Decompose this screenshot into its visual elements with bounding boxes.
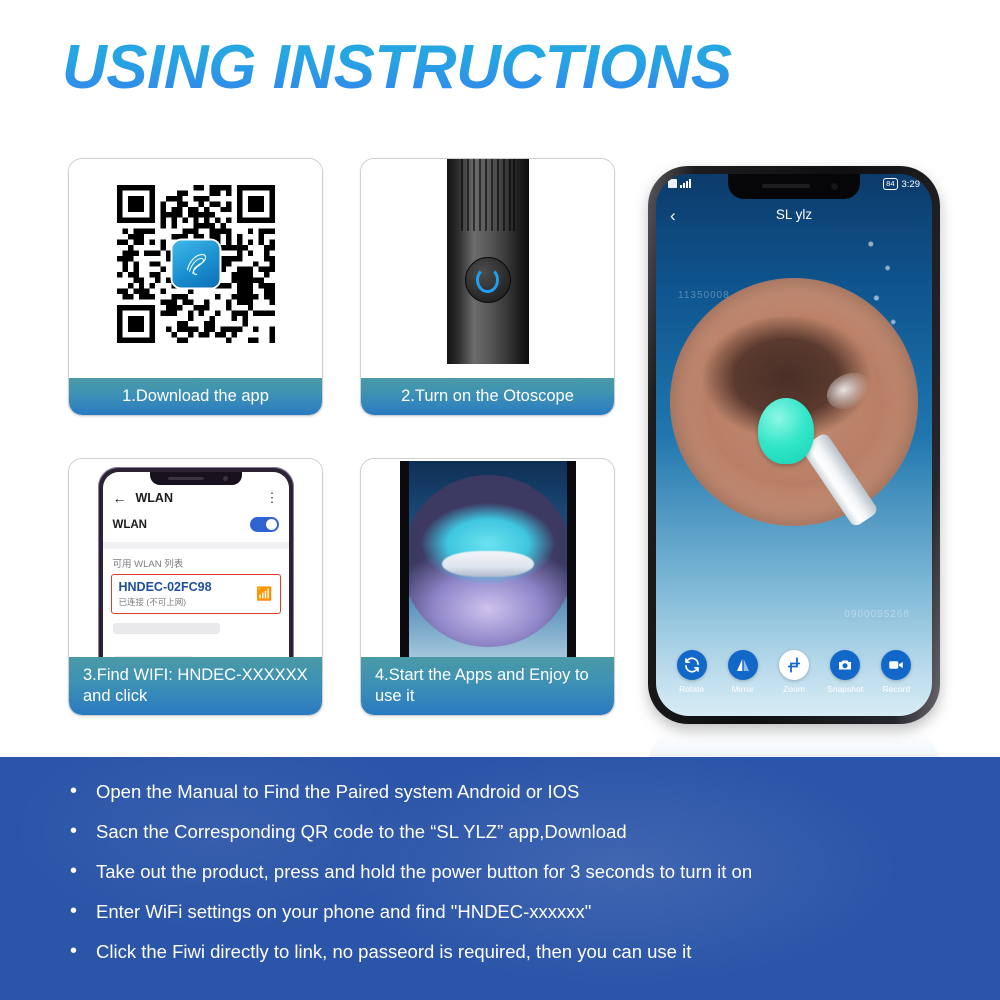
wlan-screen-title: WLAN bbox=[136, 491, 174, 505]
wifi-signal-icon: 📶 bbox=[256, 586, 272, 602]
step-card-start-app[interactable]: 4.Start the Apps and Enjoy to use it bbox=[360, 458, 615, 716]
status-bar: 84 3:29 bbox=[656, 178, 932, 194]
power-button[interactable] bbox=[465, 257, 511, 303]
notch-icon bbox=[150, 472, 242, 485]
wlan-network-item-placeholder bbox=[113, 623, 221, 634]
wlan-ssid-status: 已连接 (不可上网) bbox=[119, 596, 212, 608]
step-caption-turn-on: 2.Turn on the Otoscope bbox=[361, 378, 614, 415]
toolbar-button-rotate[interactable]: Rotate bbox=[667, 650, 717, 694]
wlan-network-item-highlighted[interactable]: HNDEC-02FC98 已连接 (不可上网) 📶 bbox=[111, 574, 281, 614]
wlan-list-header: 可用 WLAN 列表 bbox=[103, 549, 289, 574]
instruction-list: Open the Manual to Find the Paired syste… bbox=[62, 779, 960, 979]
otoscope-circle-view bbox=[409, 475, 567, 647]
toolbar-label: Rotate bbox=[667, 684, 717, 694]
list-item: Take out the product, press and hold the… bbox=[62, 859, 960, 899]
back-arrow-icon[interactable]: ← bbox=[113, 491, 127, 505]
wlan-settings-media: ← WLAN ⋮ WLAN 可用 WLAN 列表 HNDEC-02FC98 已连… bbox=[69, 459, 322, 665]
step-caption-download-app: 1.Download the app bbox=[69, 378, 322, 415]
eardrum-highlight bbox=[442, 551, 534, 577]
divider bbox=[103, 542, 289, 549]
ear-highlight bbox=[821, 366, 877, 416]
power-ring-icon bbox=[476, 267, 499, 293]
step-card-find-wifi[interactable]: ← WLAN ⋮ WLAN 可用 WLAN 列表 HNDEC-02FC98 已连… bbox=[68, 458, 323, 716]
toolbar-label: Mirror bbox=[718, 684, 768, 694]
app-logo-icon bbox=[172, 241, 219, 288]
list-item: Click the Fiwi directly to link, no pass… bbox=[62, 939, 960, 979]
app-bar: ‹ SL ylz bbox=[656, 204, 932, 230]
wlan-ssid: HNDEC-02FC98 bbox=[119, 580, 212, 594]
watermark-left: 11350008 bbox=[678, 290, 730, 301]
preview-screen bbox=[409, 461, 567, 661]
status-time: 3:29 bbox=[902, 179, 921, 190]
zoom-icon bbox=[779, 650, 809, 680]
app-title: SL ylz bbox=[656, 207, 932, 222]
camera-toolbar: Rotate Mirror Zoom bbox=[656, 650, 932, 694]
toolbar-button-mirror[interactable]: Mirror bbox=[718, 650, 768, 694]
otoscope-handle bbox=[447, 159, 529, 364]
list-item: Sacn the Corresponding QR code to the “S… bbox=[62, 819, 960, 859]
phone-mockup: 84 3:29 ‹ SL ylz 11350008 0900095268 bbox=[648, 166, 940, 724]
qr-code bbox=[117, 185, 275, 343]
sim-icon bbox=[668, 179, 677, 188]
toolbar-label: Zoom bbox=[769, 684, 819, 694]
otoscope-view-media bbox=[361, 459, 614, 665]
mirror-icon bbox=[728, 650, 758, 680]
toolbar-label: Snapshot bbox=[820, 684, 870, 694]
overflow-menu-icon[interactable]: ⋮ bbox=[266, 494, 279, 502]
rotate-icon bbox=[677, 650, 707, 680]
camera-icon bbox=[830, 650, 860, 680]
grill-texture-icon bbox=[461, 159, 515, 231]
wlan-toggle-row[interactable]: WLAN bbox=[103, 512, 289, 542]
list-item: Open the Manual to Find the Paired syste… bbox=[62, 779, 960, 819]
toolbar-label: Record bbox=[871, 684, 921, 694]
probe-shaft bbox=[801, 432, 880, 528]
list-item: Enter WiFi settings on your phone and fi… bbox=[62, 899, 960, 939]
ear-canal-view bbox=[670, 278, 918, 526]
wlan-toggle-switch[interactable] bbox=[250, 517, 279, 532]
otoscope-device-media bbox=[361, 159, 614, 373]
signal-icon bbox=[680, 179, 691, 188]
watermark-right: 0900095268 bbox=[844, 609, 910, 620]
page-title: USING INSTRUCTIONS bbox=[62, 32, 732, 103]
preview-phone-frame bbox=[400, 461, 576, 661]
step-caption-start-app: 4.Start the Apps and Enjoy to use it bbox=[361, 657, 614, 715]
wlan-screen: ← WLAN ⋮ WLAN 可用 WLAN 列表 HNDEC-02FC98 已连… bbox=[103, 472, 289, 663]
wlan-toggle-label: WLAN bbox=[113, 519, 148, 531]
battery-level: 84 bbox=[883, 178, 897, 190]
toolbar-button-record[interactable]: Record bbox=[871, 650, 921, 694]
instructions-banner: Open the Manual to Find the Paired syste… bbox=[0, 757, 1000, 1000]
instruction-poster: USING INSTRUCTIONS 1.Download the app bbox=[0, 0, 1000, 1000]
step-caption-find-wifi: 3.Find WIFI: HNDEC-XXXXXX and click bbox=[69, 657, 322, 715]
phone-screen: 84 3:29 ‹ SL ylz 11350008 0900095268 bbox=[656, 174, 932, 716]
step-card-download-app[interactable]: 1.Download the app bbox=[68, 158, 323, 416]
video-icon bbox=[881, 650, 911, 680]
step-card-turn-on[interactable]: 2.Turn on the Otoscope bbox=[360, 158, 615, 416]
toolbar-button-zoom[interactable]: Zoom bbox=[769, 650, 819, 694]
probe-tip bbox=[758, 398, 814, 464]
toolbar-button-snapshot[interactable]: Snapshot bbox=[820, 650, 870, 694]
wlan-phone-frame: ← WLAN ⋮ WLAN 可用 WLAN 列表 HNDEC-02FC98 已连… bbox=[98, 467, 294, 663]
qr-code-media bbox=[69, 159, 322, 359]
